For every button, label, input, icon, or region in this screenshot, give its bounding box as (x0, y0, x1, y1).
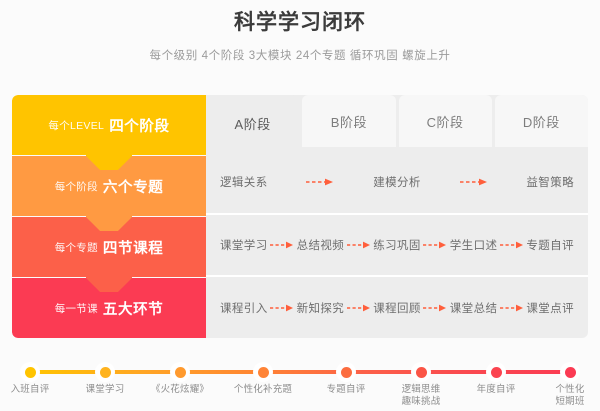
flow-step: 新知探究 (297, 300, 345, 316)
timeline-node[interactable] (95, 362, 115, 382)
arrow-right-icon (268, 241, 297, 249)
funnel-row-highlight: 四节课程 (103, 237, 163, 258)
funnel-row-lesson: 每一节课 五大环节 (12, 278, 206, 338)
funnel-row-highlight: 四个阶段 (109, 115, 169, 136)
timeline-label: 个性化补充题 (218, 384, 308, 396)
flow-step: 课堂总结 (450, 300, 498, 316)
arrow-right-icon (268, 178, 374, 186)
funnel-hierarchy: 每个LEVEL 四个阶段 每个阶段 六个专题 每个专题 四节课程 每一节课 五大… (12, 95, 206, 338)
arrow-right-icon (268, 304, 297, 312)
flow-step: 课程引入 (220, 300, 268, 316)
timeline-node[interactable] (170, 362, 190, 382)
flow-step: 总结视频 (297, 237, 345, 253)
flow-step: 专题自评 (526, 237, 574, 253)
stage-panel: A阶段 B阶段 C阶段 D阶段 逻辑关系 建模分析 益智策略 课堂学习 (206, 95, 588, 338)
chevron-notch-icon (86, 155, 132, 170)
timeline-node[interactable] (20, 362, 40, 382)
arrow-right-icon (421, 178, 527, 186)
page-header: 科学学习闭环 每个级别 4个阶段 3大模块 24个专题 循环巩固 螺旋上升 (0, 0, 600, 65)
funnel-row-prefix: 每一节课 (55, 301, 98, 316)
funnel-row-highlight: 五大环节 (103, 298, 163, 319)
funnel-row-highlight: 六个专题 (103, 176, 163, 197)
arrow-right-icon (497, 241, 526, 249)
chevron-notch-icon (86, 277, 132, 292)
page-title: 科学学习闭环 (0, 8, 600, 38)
arrow-right-icon (344, 304, 373, 312)
module-flow-row: 逻辑关系 建模分析 益智策略 (206, 151, 588, 213)
timeline-node[interactable] (486, 362, 506, 382)
flow-step: 课堂学习 (220, 237, 268, 253)
funnel-row-prefix: 每个LEVEL (48, 118, 104, 133)
stage-content-rows: 逻辑关系 建模分析 益智策略 课堂学习 总结视频 (206, 151, 588, 338)
learning-loop-diagram: 每个LEVEL 四个阶段 每个阶段 六个专题 每个专题 四节课程 每一节课 五大… (12, 95, 588, 338)
lesson-flow-row: 课程引入 新知探究 课程回顾 课堂总结 课堂点评 (206, 275, 588, 338)
flow-step: 课堂点评 (526, 300, 574, 316)
funnel-row-prefix: 每个阶段 (55, 179, 98, 194)
arrow-right-icon (421, 241, 450, 249)
funnel-row-level: 每个LEVEL 四个阶段 (12, 95, 206, 155)
tab-stage-d[interactable]: D阶段 (495, 95, 588, 147)
course-flow-row: 课堂学习 总结视频 练习巩固 学生口述 专题自评 (206, 213, 588, 275)
timeline-label: 个性化 短期班 (525, 384, 600, 408)
funnel-row-prefix: 每个专题 (55, 240, 98, 255)
arrow-right-icon (344, 241, 373, 249)
page-subtitle: 每个级别 4个阶段 3大模块 24个专题 循环巩固 螺旋上升 (0, 47, 600, 65)
flow-step: 课程回顾 (373, 300, 421, 316)
stage-tabs: A阶段 B阶段 C阶段 D阶段 (206, 95, 588, 151)
flow-step: 练习巩固 (373, 237, 421, 253)
timeline-node[interactable] (253, 362, 273, 382)
timeline-node[interactable] (411, 362, 431, 382)
flow-step: 益智策略 (526, 174, 574, 190)
funnel-row-stage: 每个阶段 六个专题 (12, 156, 206, 216)
arrow-right-icon (497, 304, 526, 312)
timeline-node[interactable] (336, 362, 356, 382)
flow-step: 建模分析 (373, 174, 421, 190)
tab-stage-c[interactable]: C阶段 (399, 95, 492, 147)
flow-step: 学生口述 (450, 237, 498, 253)
funnel-row-topic: 每个专题 四节课程 (12, 217, 206, 277)
tab-stage-a[interactable]: A阶段 (206, 95, 299, 151)
timeline-label: 《火花炫耀》 (135, 384, 225, 396)
arrow-right-icon (421, 304, 450, 312)
tab-stage-b[interactable]: B阶段 (302, 95, 395, 147)
timeline-node[interactable] (560, 362, 580, 382)
flow-step: 逻辑关系 (220, 174, 268, 190)
chevron-notch-icon (86, 216, 132, 231)
learning-timeline: 入班自评 课堂学习 《火花炫耀》 个性化补充题 专题自评 逻辑思维 趣味挑战 年… (0, 348, 600, 411)
